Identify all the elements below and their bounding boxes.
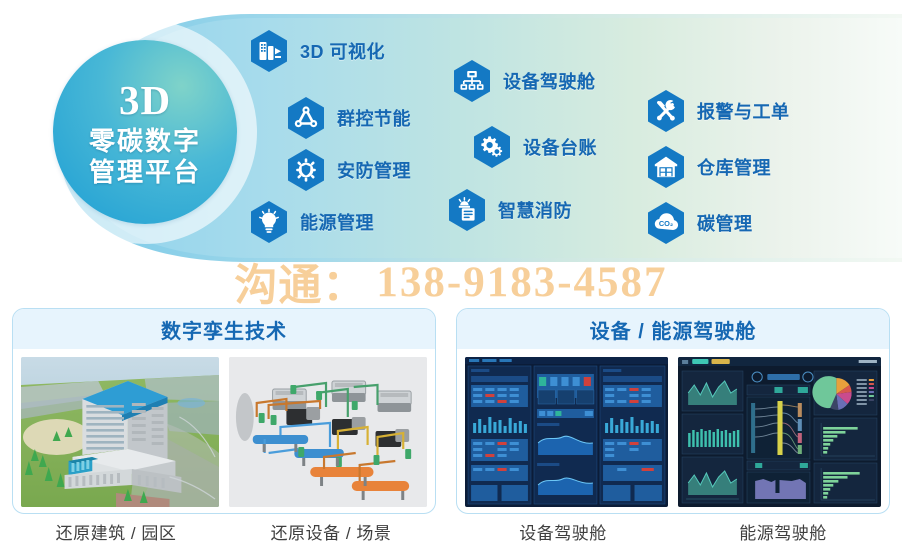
feature-item-carbon-management[interactable]: CO₂ 碳管理 (646, 201, 753, 245)
caption-energy-dashboard: 能源驾驶舱 (680, 519, 886, 544)
poster: 3D 零碳数字 管理平台 (0, 0, 902, 547)
group-control-energy-saving-icon (286, 96, 326, 140)
feature-item-equipment-ledger[interactable]: 设备台账 (472, 125, 597, 169)
smart-firefighting-icon (447, 188, 487, 232)
carbon-management-icon: CO₂ (646, 201, 686, 245)
feature-item-3d-visualization[interactable]: 3D 可视化 (249, 29, 385, 73)
alarm-workorder-icon (646, 89, 686, 133)
caption-building: 还原建筑 / 园区 (16, 519, 216, 544)
feature-item-energy-management[interactable]: 能源管理 (249, 200, 374, 244)
contact-prefix: 沟通： (234, 251, 366, 310)
feature-item-group-control[interactable]: 群控节能 (286, 96, 411, 140)
feature-label: 安防管理 (337, 157, 411, 183)
bottom-cards: 数字孪生技术 (0, 308, 902, 547)
logo-line-2: 管理平台 (89, 159, 201, 185)
svg-text:CO₂: CO₂ (659, 219, 673, 228)
feature-label: 设备台账 (523, 134, 597, 160)
warehouse-management-icon (646, 145, 686, 189)
feature-label: 智慧消防 (498, 197, 572, 223)
3d-visualization-icon (249, 29, 289, 73)
feature-item-alarm-workorder[interactable]: 报警与工单 (646, 89, 790, 133)
card-cockpit: 设备 / 能源驾驶舱 (456, 308, 890, 514)
feature-label: 碳管理 (697, 210, 753, 236)
logo-badge: 3D 零碳数字 管理平台 (53, 40, 237, 224)
feature-label: 设备驾驶舱 (503, 68, 596, 94)
thumb-captions: 还原建筑 / 园区 还原设备 / 场景 设备驾驶舱 能源驾驶舱 (0, 519, 902, 547)
contact-number: 138-9183-4587 (376, 258, 667, 307)
caption-equipment-dashboard: 设备驾驶舱 (460, 519, 666, 544)
feature-label: 能源管理 (300, 209, 374, 235)
building-3d-render[interactable] (21, 357, 219, 507)
feature-label: 3D 可视化 (300, 38, 385, 64)
logo-title-3d: 3D (119, 80, 171, 121)
feature-item-security-management[interactable]: 安防管理 (286, 148, 411, 192)
equipment-3d-render[interactable] (229, 357, 427, 507)
equipment-ledger-icon (472, 125, 512, 169)
security-management-icon (286, 148, 326, 192)
feature-label: 报警与工单 (697, 98, 790, 124)
caption-equipment: 还原设备 / 场景 (228, 519, 434, 544)
hero-section: 3D 零碳数字 管理平台 (0, 0, 902, 310)
card-body (457, 349, 889, 507)
card-header: 数字孪生技术 (13, 309, 435, 349)
card-title: 数字孪生技术 (161, 315, 287, 344)
contact-phone-banner: 沟通： 138-9183-4587 (0, 258, 902, 306)
card-title: 设备 / 能源驾驶舱 (590, 315, 757, 344)
energy-dashboard-screenshot[interactable] (678, 357, 881, 507)
feature-item-smart-firefighting[interactable]: 智慧消防 (447, 188, 572, 232)
logo-line-1: 零碳数字 (89, 128, 201, 154)
equipment-cockpit-icon (452, 59, 492, 103)
card-digital-twin: 数字孪生技术 (12, 308, 436, 514)
equipment-dashboard-screenshot[interactable] (465, 357, 668, 507)
feature-item-equipment-cockpit[interactable]: 设备驾驶舱 (452, 59, 596, 103)
feature-label: 群控节能 (337, 105, 411, 131)
card-body (13, 349, 435, 507)
card-header: 设备 / 能源驾驶舱 (457, 309, 889, 349)
feature-label: 仓库管理 (697, 154, 771, 180)
energy-management-icon (249, 200, 289, 244)
feature-item-warehouse-management[interactable]: 仓库管理 (646, 145, 771, 189)
